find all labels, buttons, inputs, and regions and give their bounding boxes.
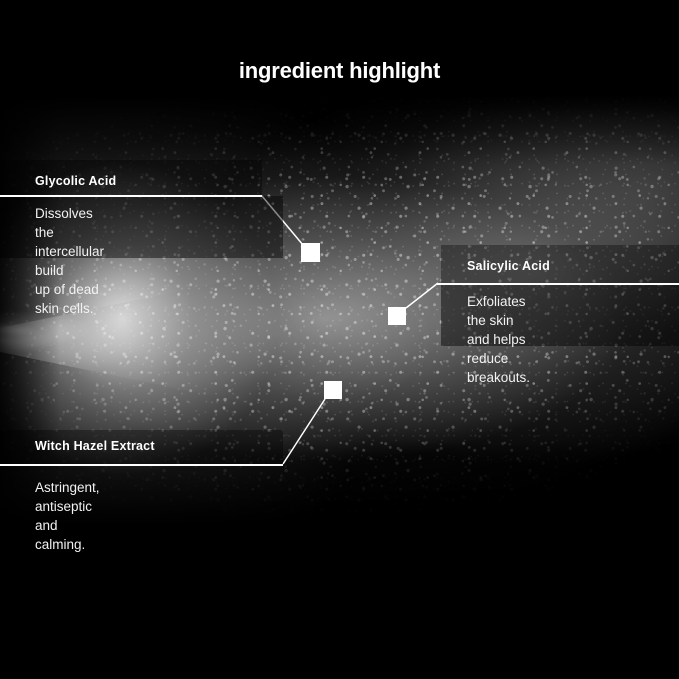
spray-photo (0, 95, 679, 525)
photo-vignette (0, 95, 679, 525)
ingredient-highlight-infographic: ingredient highlight Glycolic Acid Disso… (0, 0, 679, 679)
page-title: ingredient highlight (0, 58, 679, 84)
